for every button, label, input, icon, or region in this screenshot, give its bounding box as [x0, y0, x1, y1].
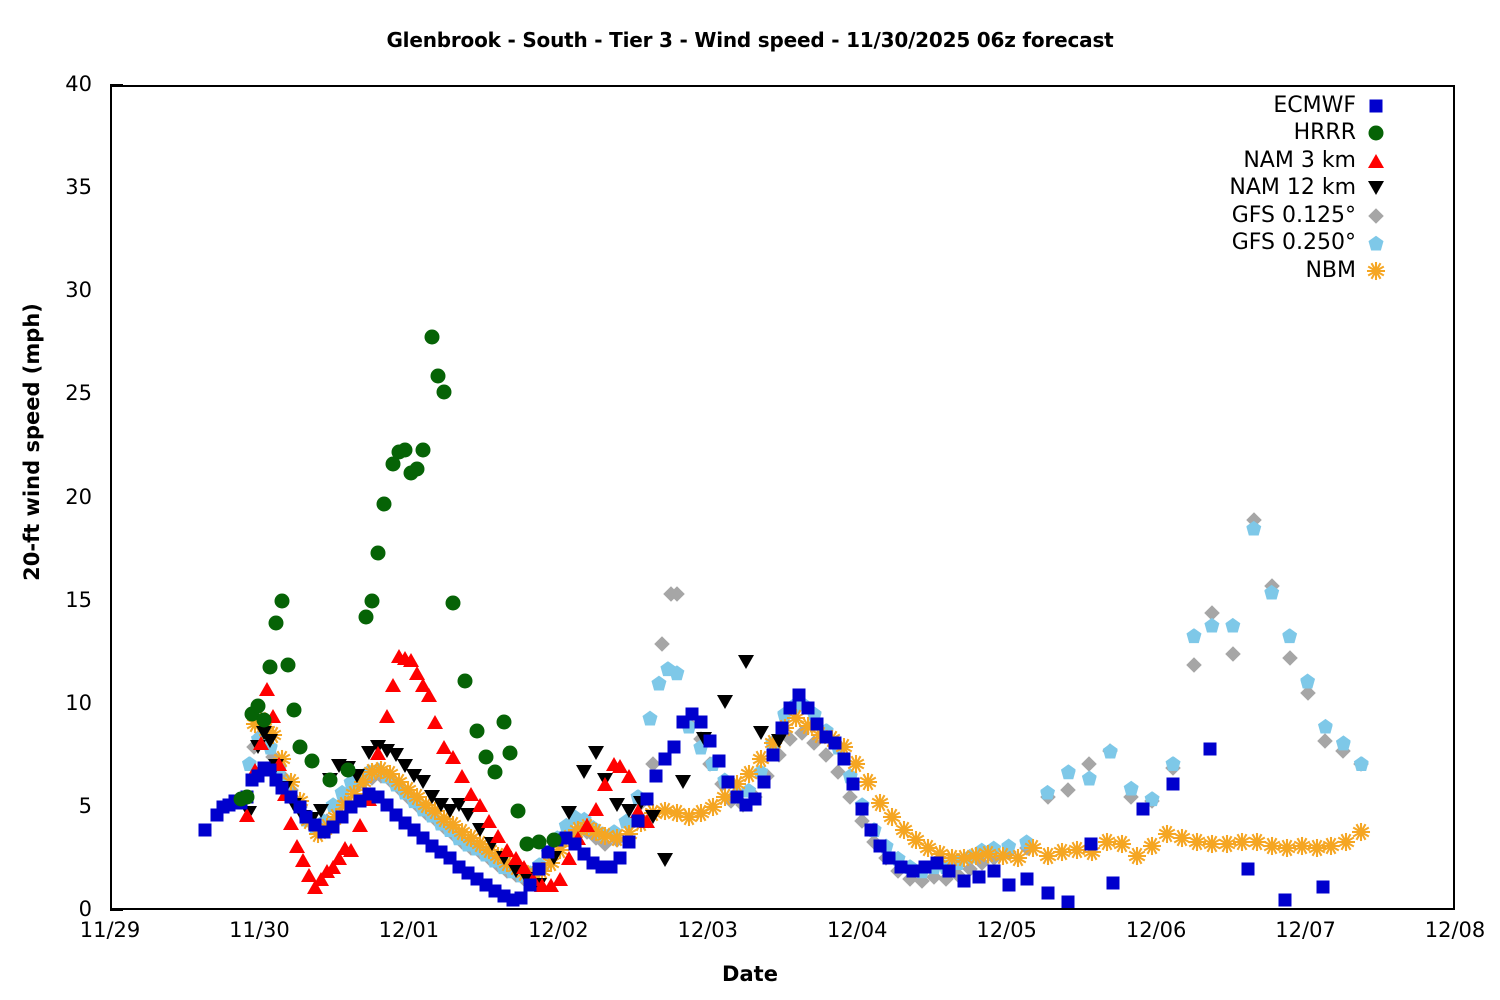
data-point	[469, 723, 484, 738]
data-point	[359, 610, 374, 625]
data-point	[409, 461, 424, 476]
legend-item-nam-3-km[interactable]: NAM 3 km	[1150, 147, 1408, 175]
legend: ECMWFHRRRNAM 3 kmNAM 12 kmGFS 0.125°GFS …	[1150, 92, 1408, 285]
data-point	[275, 593, 290, 608]
data-point	[365, 593, 380, 608]
data-point	[445, 595, 460, 610]
legend-marker-triangle-up-icon	[1356, 149, 1408, 173]
data-point	[281, 657, 296, 672]
y-tick-label: 20	[22, 485, 92, 509]
data-point	[478, 750, 493, 765]
legend-label: GFS 0.250°	[1232, 232, 1356, 254]
data-point	[239, 789, 254, 804]
legend-label: NBM	[1305, 260, 1356, 282]
x-tick-label: 12/06	[1096, 918, 1216, 942]
y-tick-label: 30	[22, 278, 92, 302]
legend-label: ECMWF	[1273, 95, 1356, 117]
data-point	[511, 803, 526, 818]
y-tick-label: 25	[22, 381, 92, 405]
data-point	[457, 674, 472, 689]
legend-marker-square-icon	[1356, 94, 1408, 118]
legend-label: NAM 3 km	[1243, 150, 1356, 172]
data-point	[415, 443, 430, 458]
x-tick-label: 12/04	[797, 918, 917, 942]
data-point	[371, 546, 386, 561]
data-point	[430, 368, 445, 383]
data-point	[341, 762, 356, 777]
chart-page: Glenbrook - South - Tier 3 - Wind speed …	[0, 0, 1500, 1000]
y-tick-label: 5	[22, 794, 92, 818]
x-tick-label: 11/29	[50, 918, 170, 942]
y-tick-label: 35	[22, 175, 92, 199]
legend-item-nbm[interactable]: NBM	[1150, 257, 1408, 285]
legend-label: HRRR	[1294, 122, 1356, 144]
legend-marker-asterisk-icon	[1356, 259, 1408, 283]
data-point	[496, 715, 511, 730]
data-point	[257, 713, 272, 728]
legend-label: GFS 0.125°	[1232, 205, 1356, 227]
legend-item-hrrr[interactable]: HRRR	[1150, 120, 1408, 148]
data-point	[293, 740, 308, 755]
data-point	[251, 698, 266, 713]
y-tick-label: 40	[22, 72, 92, 96]
data-point	[436, 385, 451, 400]
x-axis-title: Date	[0, 962, 1500, 986]
data-point	[269, 616, 284, 631]
data-point	[487, 764, 502, 779]
data-point	[547, 832, 562, 847]
legend-marker-pentagon-icon	[1356, 231, 1408, 255]
legend-marker-diamond-icon	[1356, 204, 1408, 228]
legend-item-nam-12-km[interactable]: NAM 12 km	[1150, 175, 1408, 203]
y-tick-label: 10	[22, 691, 92, 715]
data-point	[376, 496, 391, 511]
x-tick-label: 12/08	[1395, 918, 1500, 942]
legend-marker-circle-icon	[1356, 121, 1408, 145]
data-point	[397, 443, 412, 458]
data-point	[323, 773, 338, 788]
x-tick-label: 12/01	[349, 918, 469, 942]
x-tick-label: 12/05	[947, 918, 1067, 942]
x-tick-label: 12/03	[648, 918, 768, 942]
legend-label: NAM 12 km	[1229, 177, 1356, 199]
x-tick-label: 12/02	[498, 918, 618, 942]
legend-item-ecmwf[interactable]: ECMWF	[1150, 92, 1408, 120]
y-tick-label: 15	[22, 588, 92, 612]
data-point	[424, 329, 439, 344]
legend-item-gfs-0-125[interactable]: GFS 0.125°	[1150, 202, 1408, 230]
legend-marker-triangle-down-icon	[1356, 176, 1408, 200]
x-tick-label: 11/30	[199, 918, 319, 942]
data-point	[502, 746, 517, 761]
data-point	[532, 834, 547, 849]
x-tick-label: 12/07	[1246, 918, 1366, 942]
data-point	[263, 659, 278, 674]
data-point	[287, 702, 302, 717]
legend-item-gfs-0-250[interactable]: GFS 0.250°	[1150, 230, 1408, 258]
data-point	[305, 754, 320, 769]
page-title: Glenbrook - South - Tier 3 - Wind speed …	[0, 28, 1500, 52]
